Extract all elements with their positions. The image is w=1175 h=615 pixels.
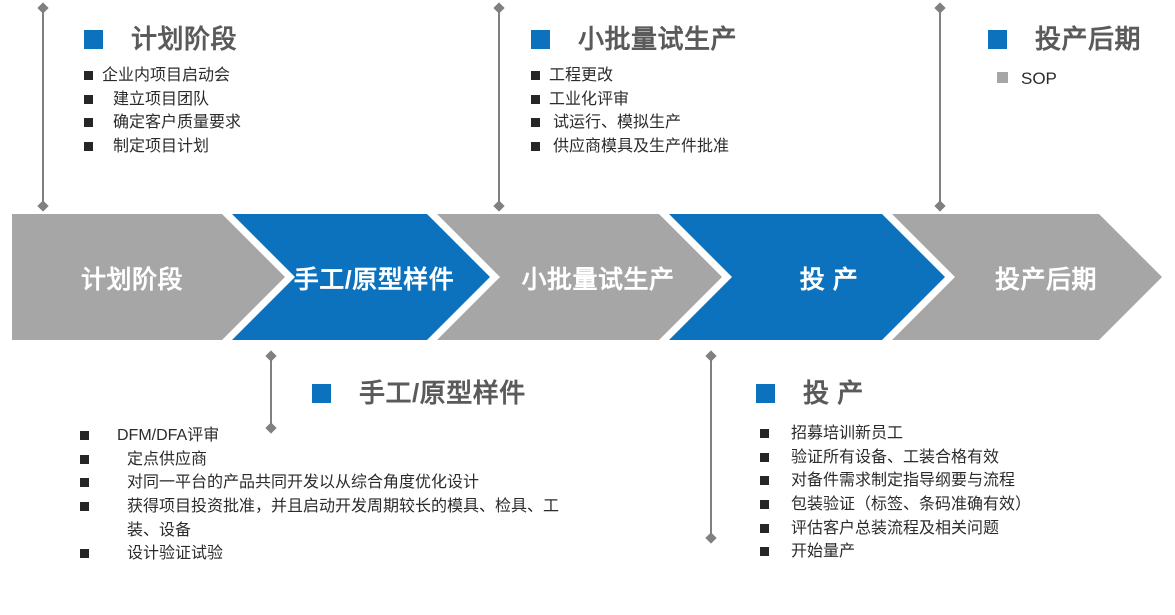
bullet-square-icon bbox=[760, 524, 769, 533]
bullet-square-icon bbox=[760, 476, 769, 485]
chevron-label-prototype: 手工/原型样件 bbox=[294, 260, 454, 296]
bullet-square-icon bbox=[760, 429, 769, 438]
callout-production-header: 投 产 bbox=[756, 380, 1175, 406]
list-item: 设计验证试验 bbox=[80, 542, 680, 566]
callout-production-title: 投 产 bbox=[803, 380, 864, 406]
bullet-square-icon bbox=[80, 502, 89, 511]
list-item: 验证所有设备、工装合格有效 bbox=[760, 446, 1175, 470]
list-item-label: 获得项目投资批准，并且启动开发周期较长的模具、检具、工装、设备 bbox=[127, 495, 577, 542]
chevron-label-pilot: 小批量试生产 bbox=[521, 260, 674, 296]
blue-square-icon bbox=[312, 384, 331, 403]
list-item-label: 包装验证（标签、条码准确有效） bbox=[791, 493, 1175, 517]
callout-prototype: 手工/原型样件 DFM/DFA评审 定点供应商 对同一平台的产品共同开发以从综合… bbox=[80, 380, 680, 566]
callout-production: 投 产 招募培训新员工 验证所有设备、工装合格有效 对备件需求制定指导纲要与流程… bbox=[756, 380, 1175, 564]
bullet-square-icon bbox=[760, 547, 769, 556]
chevron-label-planning: 计划阶段 bbox=[81, 260, 183, 296]
list-item: 包装验证（标签、条码准确有效） bbox=[760, 493, 1175, 517]
list-item: 开始量产 bbox=[760, 540, 1175, 564]
bullet-square-icon bbox=[80, 478, 89, 487]
list-item-label: 招募培训新员工 bbox=[791, 422, 1175, 446]
bullet-square-icon bbox=[760, 453, 769, 462]
list-item-label: 定点供应商 bbox=[127, 448, 680, 472]
bullet-square-icon bbox=[80, 549, 89, 558]
callout-prototype-list: DFM/DFA评审 定点供应商 对同一平台的产品共同开发以从综合角度优化设计 获… bbox=[80, 424, 680, 566]
list-item: 对备件需求制定指导纲要与流程 bbox=[760, 469, 1175, 493]
list-item: 定点供应商 bbox=[80, 448, 680, 472]
list-item-label: 验证所有设备、工装合格有效 bbox=[791, 446, 1175, 470]
list-item-label: 开始量产 bbox=[791, 540, 1175, 564]
list-item-label: 设计验证试验 bbox=[127, 542, 680, 566]
callout-prototype-header: 手工/原型样件 bbox=[80, 380, 680, 406]
callout-production-list: 招募培训新员工 验证所有设备、工装合格有效 对备件需求制定指导纲要与流程 包装验… bbox=[760, 422, 1175, 564]
list-item: 对同一平台的产品共同开发以从综合角度优化设计 bbox=[80, 471, 680, 495]
list-item: 评估客户总装流程及相关问题 bbox=[760, 517, 1175, 541]
list-item: 获得项目投资批准，并且启动开发周期较长的模具、检具、工装、设备 bbox=[80, 495, 680, 542]
blue-square-icon bbox=[756, 384, 775, 403]
list-item-label: 对备件需求制定指导纲要与流程 bbox=[791, 469, 1175, 493]
list-item-label: DFM/DFA评审 bbox=[117, 424, 680, 448]
callout-prototype-title: 手工/原型样件 bbox=[359, 380, 526, 406]
bullet-square-icon bbox=[80, 455, 89, 464]
bullet-square-icon bbox=[760, 500, 769, 509]
list-item-label: 评估客户总装流程及相关问题 bbox=[791, 517, 1175, 541]
list-item: 招募培训新员工 bbox=[760, 422, 1175, 446]
list-item-label: 对同一平台的产品共同开发以从综合角度优化设计 bbox=[127, 471, 680, 495]
chevron-label-post-production: 投产后期 bbox=[995, 260, 1097, 296]
chevron-label-production: 投 产 bbox=[800, 260, 858, 296]
list-item: DFM/DFA评审 bbox=[80, 424, 680, 448]
bullet-square-icon bbox=[80, 431, 89, 440]
process-flow-diagram: 计划阶段 企业内项目启动会 建立项目团队 确定客户质量要求 制定项目计划 bbox=[0, 0, 1175, 615]
